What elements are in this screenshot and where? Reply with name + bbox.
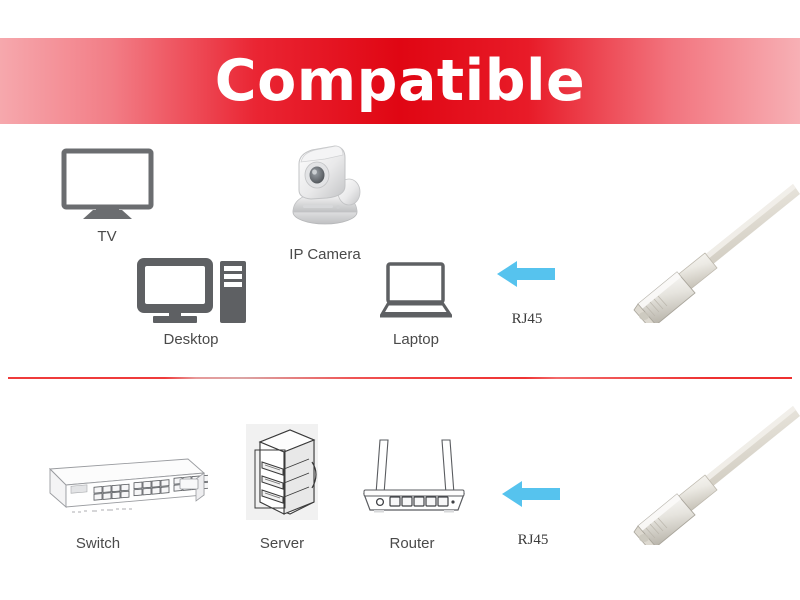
wifi-router-icon bbox=[358, 432, 470, 522]
ip-camera-icon bbox=[281, 142, 369, 228]
switch-label: Switch bbox=[48, 535, 148, 552]
header-banner: Compatible bbox=[0, 38, 800, 124]
tv-icon bbox=[60, 148, 155, 223]
tv-label: TV bbox=[62, 228, 152, 245]
laptop-label: Laptop bbox=[375, 331, 457, 348]
rj45-label-top: RJ45 bbox=[488, 311, 566, 328]
rj45-label-bottom: RJ45 bbox=[494, 532, 572, 549]
server-rack-icon bbox=[246, 424, 318, 520]
network-switch-icon bbox=[28, 457, 208, 519]
desktop-label: Desktop bbox=[128, 331, 254, 348]
ip-camera-label: IP Camera bbox=[255, 246, 395, 263]
desktop-computer-icon bbox=[136, 257, 249, 325]
ethernet-cable-rj45-bottom bbox=[605, 400, 800, 545]
page-title: Compatible bbox=[215, 53, 585, 110]
arrow-left-icon bbox=[497, 258, 555, 290]
router-label: Router bbox=[370, 535, 454, 552]
arrow-left-icon-bottom bbox=[502, 478, 560, 510]
ethernet-cable-rj45-top bbox=[605, 178, 800, 323]
server-label: Server bbox=[232, 535, 332, 552]
section-divider bbox=[8, 377, 792, 379]
laptop-icon bbox=[380, 262, 452, 320]
